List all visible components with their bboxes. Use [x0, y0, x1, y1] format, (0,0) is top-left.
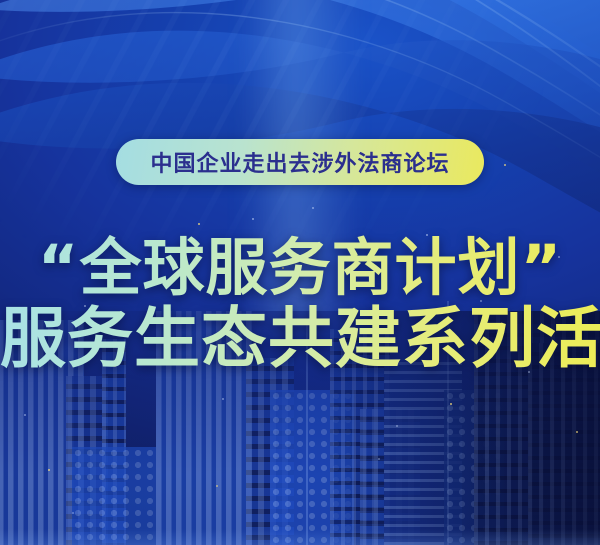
wave-ribbon-graphic — [0, 0, 600, 251]
forum-badge-label: 中国企业走出去涉外法商论坛 — [150, 146, 449, 178]
forum-badge-container: 中国企业走出去涉外法商论坛 — [0, 139, 600, 185]
forum-badge[interactable]: 中国企业走出去涉外法商论坛 — [116, 139, 483, 185]
title-line-1: “全球服务商计划” — [0, 232, 600, 304]
banner-title-block: “全球服务商计划” 服务生态共建系列活动 — [0, 232, 600, 376]
title-line-2: 服务生态共建系列活动 — [0, 302, 600, 376]
event-banner: 中国企业走出去涉外法商论坛 “全球服务商计划” 服务生态共建系列活动 — [0, 0, 600, 545]
bottom-glow — [0, 529, 600, 545]
